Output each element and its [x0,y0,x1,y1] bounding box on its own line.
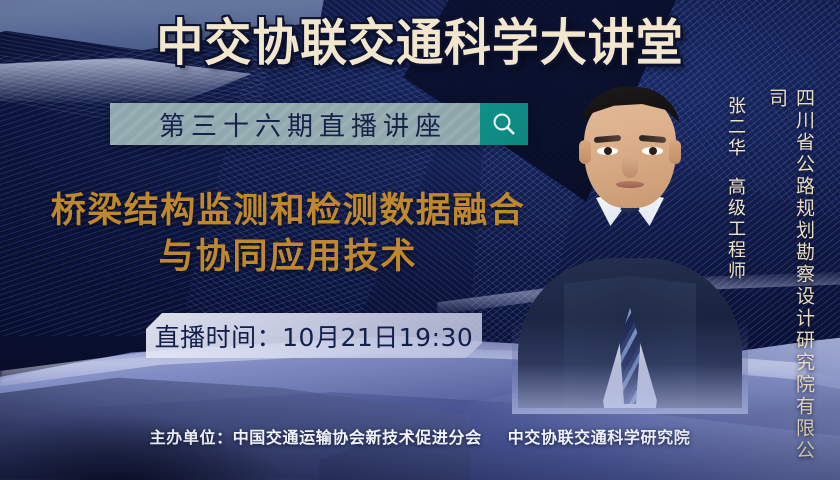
organizer-prefix: 主办单位： [150,428,233,447]
page-title: 中交协联交通科学大讲堂 [25,14,815,72]
organizer-name-1: 中国交通运输协会新技术促进分会 [233,428,482,447]
speaker-organization: 四川省公路规划勘察设计研究院有限公司 [764,88,818,480]
portrait-eye-left [597,147,618,155]
portrait-ear-left [579,140,591,164]
broadcast-time-text: 直播时间：10月21日19:30 [155,318,474,354]
broadcast-time-badge: 直播时间：10月21日19:30 [146,313,482,358]
portrait-ear-right [669,140,681,164]
session-subtitle-bar: 第三十六期直播讲座 [110,103,528,145]
search-icon [491,111,517,137]
organizer-footer: 主办单位：中国交通运输协会新技术促进分会中交协联交通科学研究院 [0,424,840,448]
speaker-name-block: 张二华高级工程师 [722,96,748,282]
portrait-eye-right [642,147,663,155]
organizer-name-2: 中交协联交通科学研究院 [508,428,691,447]
lecture-title-line-1: 桥梁结构监测和检测数据融合 [28,188,548,234]
lecture-poster: 中交协联交通科学大讲堂 第三十六期直播讲座 桥梁结构监测和检测数据融合 与协同应… [0,0,840,480]
portrait-mouth [616,181,644,188]
lecture-title-line-2: 与协同应用技术 [28,234,548,280]
speaker-portrait [536,78,724,408]
portrait-nose [622,156,638,178]
speaker-name: 张二华 [725,96,746,159]
speaker-role: 高级工程师 [722,177,748,282]
lecture-title: 桥梁结构监测和检测数据融合 与协同应用技术 [28,188,548,280]
search-button[interactable] [480,103,528,145]
session-subtitle-label: 第三十六期直播讲座 [110,103,480,145]
